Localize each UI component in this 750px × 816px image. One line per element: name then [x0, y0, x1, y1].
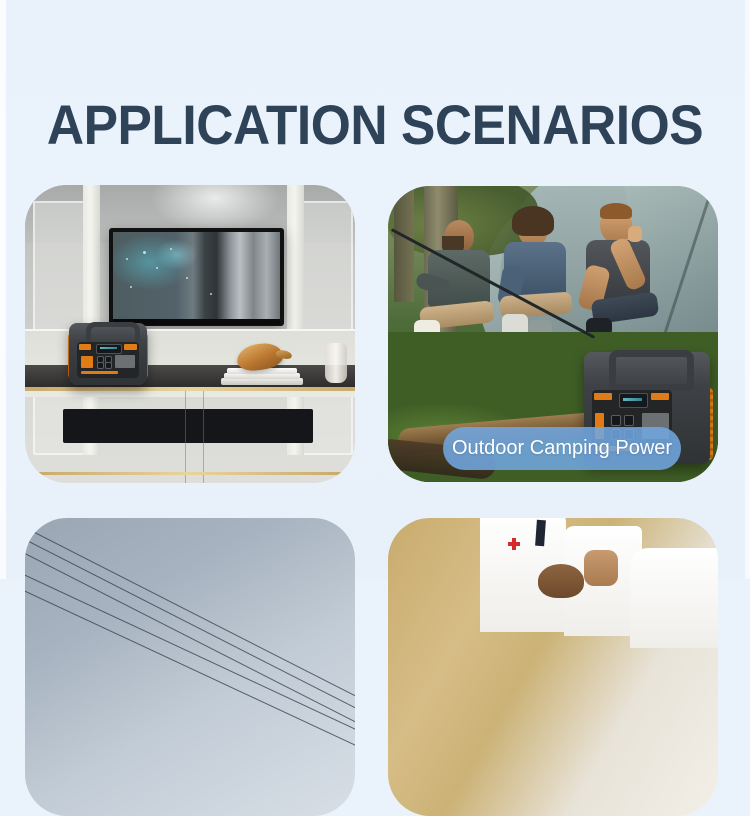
patient-head	[538, 564, 584, 598]
page-title: APPLICATION SCENARIOS	[30, 96, 720, 154]
left-edge-strip	[0, 0, 6, 579]
card-label-outdoor-camping-power[interactable]: Outdoor Camping Power	[443, 427, 681, 470]
cabinet-seam-right	[203, 391, 204, 483]
right-edge-strip	[745, 0, 750, 579]
red-cross-icon	[508, 538, 520, 550]
medical-scene	[388, 518, 718, 816]
scenario-card-home-power[interactable]: Home Power	[25, 185, 355, 483]
forearm	[584, 550, 618, 586]
scenario-card-power-lines[interactable]	[25, 518, 355, 816]
portable-power-station	[69, 323, 147, 385]
console-open-shelf	[63, 409, 313, 443]
glass-vase	[325, 343, 347, 383]
tree-trunk-secondary	[394, 186, 414, 302]
wall-mounted-tv	[109, 228, 284, 326]
tv-screen	[113, 232, 280, 319]
living-room-scene	[25, 185, 355, 483]
cabinet-seam-left	[185, 391, 186, 483]
scenario-card-medical[interactable]	[388, 518, 718, 816]
necktie	[535, 520, 546, 547]
power-lines-scene	[25, 518, 355, 816]
cabinet-base-trim	[33, 472, 345, 475]
scenario-card-outdoor-camping-power[interactable]: Outdoor Camping Power	[388, 186, 718, 482]
book-stack	[221, 363, 303, 385]
doctor-white-coat	[630, 548, 718, 648]
